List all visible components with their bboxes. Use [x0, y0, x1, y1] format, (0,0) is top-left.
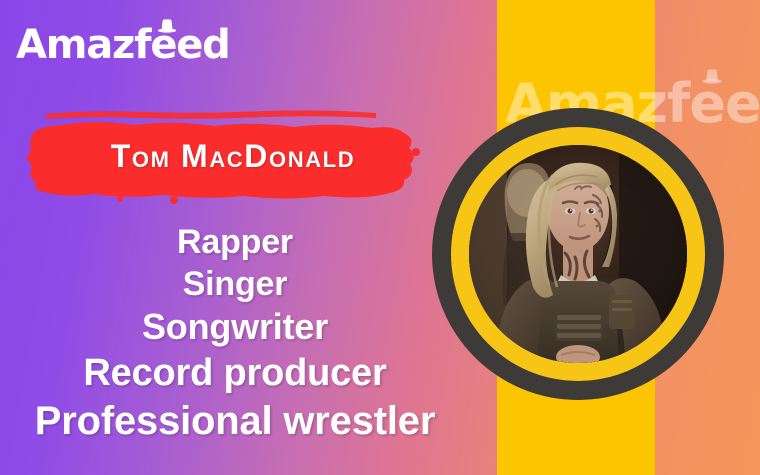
portrait-frame: [432, 108, 724, 400]
hat-icon: [701, 68, 723, 84]
list-item: Professional wrestler: [0, 398, 470, 445]
hat-icon: [157, 18, 177, 33]
avatar: [469, 145, 687, 363]
portrait-inner-ring: [451, 127, 705, 381]
title-banner: Tom MacDonald: [24, 106, 434, 206]
roles-list: Rapper Singer Songwriter Record producer…: [0, 222, 470, 445]
list-item: Rapper: [0, 222, 470, 262]
portrait-photo: [469, 145, 687, 363]
page-title: Tom MacDonald: [24, 106, 434, 206]
brand-logo-text: Amazfeed: [16, 22, 230, 68]
promo-graphic: Amazfeed Amazfeed Tom MacDonald Rapper S: [0, 0, 760, 475]
list-item: Songwriter: [0, 306, 470, 348]
list-item: Record producer: [0, 351, 470, 396]
brand-logo[interactable]: Amazfeed: [16, 22, 230, 68]
list-item: Singer: [0, 264, 470, 304]
